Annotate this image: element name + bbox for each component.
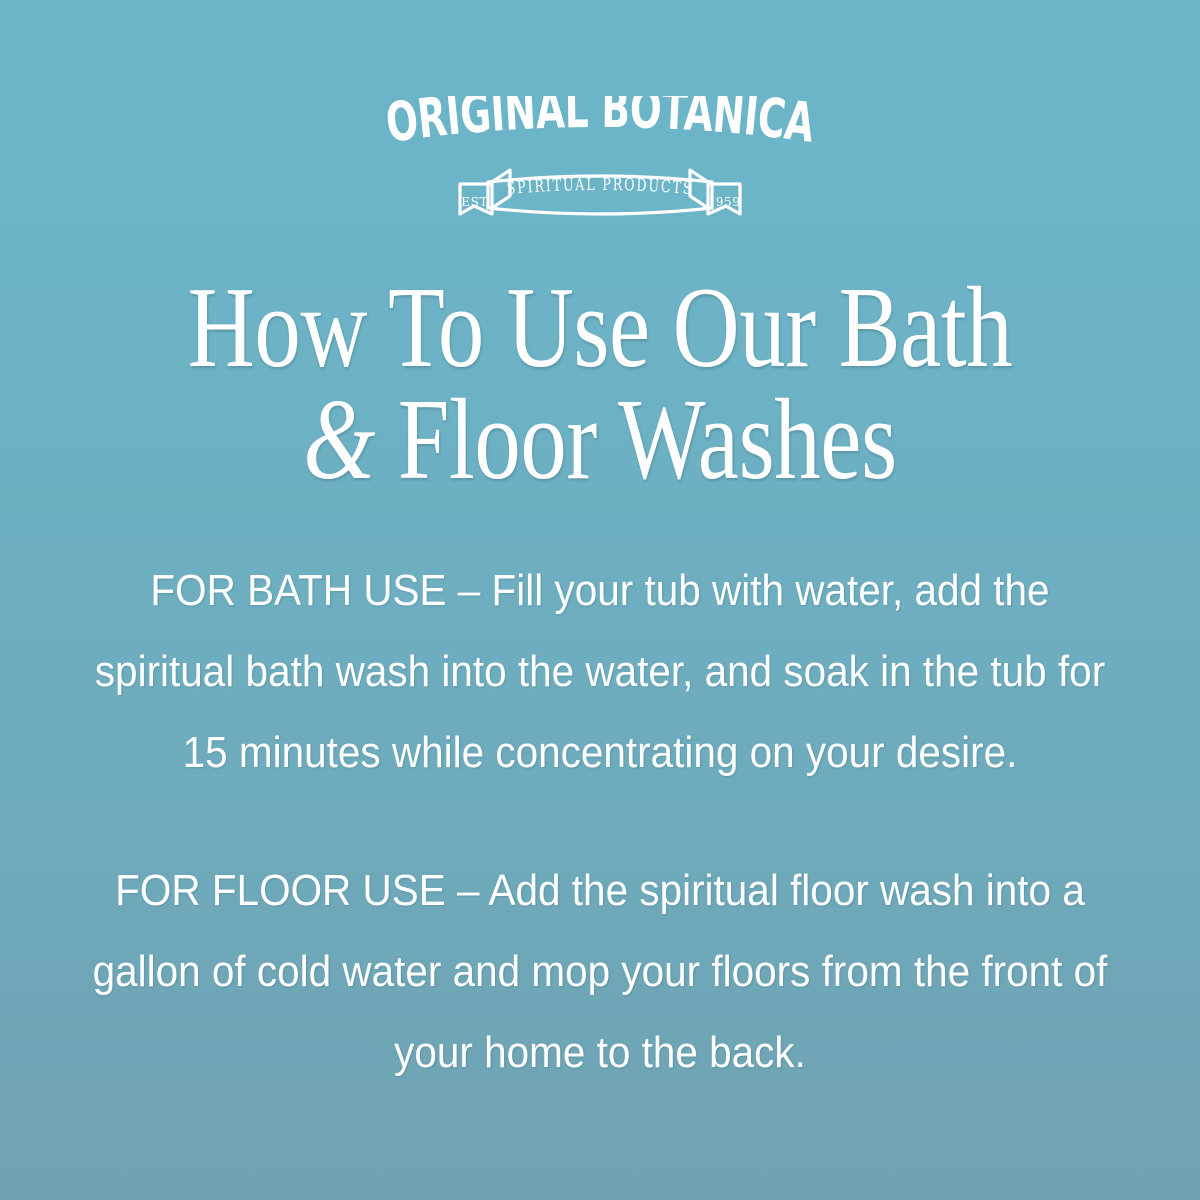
instruction-line: 15 minutes while concentrating on your d… <box>48 712 1152 793</box>
page-title-line-2-rest: Floor Washes <box>375 376 897 504</box>
instructions-paragraph-floor: FOR FLOOR USE – Add the spiritual floor … <box>0 850 1200 1093</box>
logo-ribbon-year-text: 1959 <box>708 195 741 209</box>
page-title-line-1: How To Use Our Bath <box>120 272 1080 384</box>
instructions-paragraph-bath: FOR BATH USE – Fill your tub with water,… <box>0 550 1200 793</box>
instruction-line: spiritual bath wash into the water, and … <box>48 631 1152 712</box>
instruction-line: FOR BATH USE – Fill your tub with water,… <box>48 550 1152 631</box>
instruction-line: FOR FLOOR USE – Add the spiritual floor … <box>48 850 1152 931</box>
instruction-line: your home to the back. <box>48 1012 1152 1093</box>
ampersand-glyph: & <box>303 376 375 504</box>
brand-logo: ORIGINAL BOTANICA SPIRITUAL PRODUCTS <box>0 96 1200 226</box>
original-botanica-logo-icon: ORIGINAL BOTANICA SPIRITUAL PRODUCTS <box>370 96 830 224</box>
poster-canvas: ORIGINAL BOTANICA SPIRITUAL PRODUCTS <box>0 0 1200 1200</box>
logo-wordmark-text: ORIGINAL BOTANICA <box>382 96 818 155</box>
page-title: How To Use Our Bath & Floor Washes <box>0 272 1200 496</box>
instruction-line: gallon of cold water and mop your floors… <box>48 931 1152 1012</box>
logo-ribbon-center-text: SPIRITUAL PRODUCTS <box>506 175 694 199</box>
page-title-line-2: & Floor Washes <box>120 384 1080 496</box>
logo-ribbon-est-text: EST. <box>461 195 490 209</box>
